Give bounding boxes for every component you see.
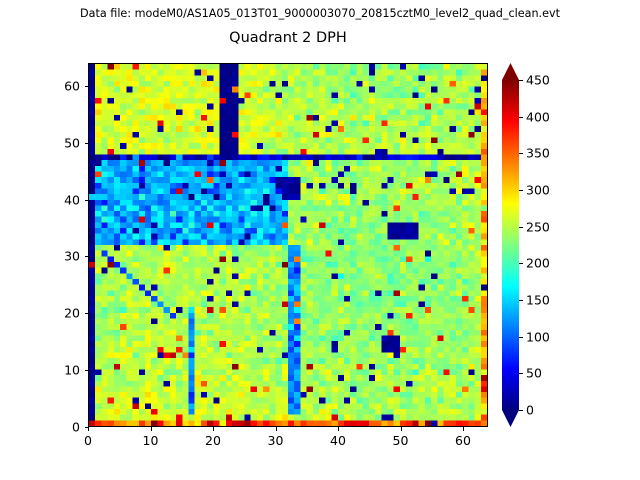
x-tick-label: 0 bbox=[84, 433, 92, 448]
y-tick-mark bbox=[85, 256, 89, 257]
x-tick-mark bbox=[88, 427, 89, 431]
colorbar-tick-label: 50 bbox=[526, 366, 542, 381]
y-tick-label: 50 bbox=[0, 135, 80, 150]
colorbar-extend-high-arrow bbox=[502, 63, 519, 80]
colorbar-tick-mark bbox=[519, 337, 523, 338]
colorbar[interactable]: 050100150200250300350400450 bbox=[495, 55, 615, 440]
colorbar-tick-mark bbox=[519, 153, 523, 154]
y-tick-label: 30 bbox=[0, 249, 80, 264]
heatmap-image[interactable] bbox=[89, 64, 487, 426]
x-tick-label: 60 bbox=[455, 433, 471, 448]
y-tick-label: 60 bbox=[0, 78, 80, 93]
x-tick-label: 50 bbox=[393, 433, 409, 448]
y-tick-mark bbox=[85, 143, 89, 144]
colorbar-tick-mark bbox=[519, 80, 523, 81]
colorbar-tick-mark bbox=[519, 263, 523, 264]
matplotlib-figure: Data file: modeM0/AS1A05_013T01_90000030… bbox=[0, 0, 640, 480]
x-tick-label: 10 bbox=[143, 433, 159, 448]
x-tick-mark bbox=[151, 427, 152, 431]
colorbar-tick-label: 350 bbox=[526, 146, 550, 161]
colorbar-tick-label: 450 bbox=[526, 73, 550, 88]
colorbar-tick-label: 100 bbox=[526, 329, 550, 344]
colorbar-tick-label: 250 bbox=[526, 219, 550, 234]
x-tick-label: 40 bbox=[330, 433, 346, 448]
y-tick-mark bbox=[85, 427, 89, 428]
x-tick-mark bbox=[463, 427, 464, 431]
y-tick-mark bbox=[85, 200, 89, 201]
colorbar-extend-low-arrow bbox=[502, 410, 519, 427]
colorbar-tick-mark bbox=[519, 117, 523, 118]
colorbar-tick-mark bbox=[519, 190, 523, 191]
x-tick-label: 20 bbox=[205, 433, 221, 448]
x-tick-mark bbox=[213, 427, 214, 431]
colorbar-tick-label: 0 bbox=[526, 403, 534, 418]
colorbar-tick-label: 200 bbox=[526, 256, 550, 271]
colorbar-tick-mark bbox=[519, 227, 523, 228]
y-tick-label: 40 bbox=[0, 192, 80, 207]
colorbar-tick-label: 400 bbox=[526, 109, 550, 124]
x-tick-label: 30 bbox=[268, 433, 284, 448]
x-tick-mark bbox=[401, 427, 402, 431]
y-tick-label: 10 bbox=[0, 363, 80, 378]
y-tick-label: 0 bbox=[0, 420, 80, 435]
y-tick-mark bbox=[85, 313, 89, 314]
colorbar-body bbox=[502, 80, 519, 410]
y-tick-mark bbox=[85, 370, 89, 371]
axes-title: Quadrant 2 DPH bbox=[88, 30, 488, 46]
heatmap-plot-area[interactable] bbox=[88, 63, 488, 427]
colorbar-tick-label: 150 bbox=[526, 293, 550, 308]
x-tick-mark bbox=[338, 427, 339, 431]
y-tick-mark bbox=[85, 86, 89, 87]
colorbar-gradient bbox=[495, 55, 615, 440]
figure-suptitle: Data file: modeM0/AS1A05_013T01_90000030… bbox=[0, 7, 640, 20]
y-tick-label: 20 bbox=[0, 306, 80, 321]
colorbar-tick-mark bbox=[519, 300, 523, 301]
colorbar-tick-mark bbox=[519, 373, 523, 374]
colorbar-tick-label: 300 bbox=[526, 183, 550, 198]
x-tick-mark bbox=[276, 427, 277, 431]
colorbar-tick-mark bbox=[519, 410, 523, 411]
